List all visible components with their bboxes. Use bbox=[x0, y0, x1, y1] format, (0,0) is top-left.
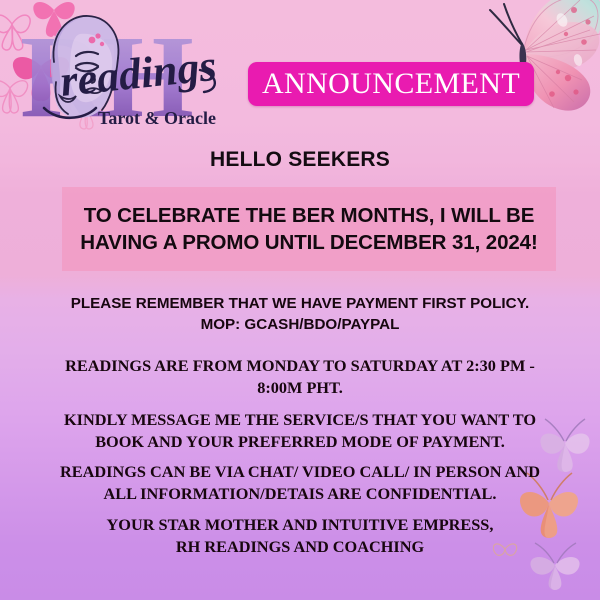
signature-line-1: YOUR STAR MOTHER AND INTUITIVE EMPRESS, bbox=[45, 514, 555, 536]
promo-text: TO CELEBRATE THE BER MONTHS, I WILL BE H… bbox=[62, 202, 556, 257]
announcement-badge: ANNOUNCEMENT bbox=[248, 62, 534, 106]
logo-tagline: Tarot & Oracle bbox=[98, 108, 216, 128]
payment-policy-text: PLEASE REMEMBER THAT WE HAVE PAYMENT FIR… bbox=[50, 294, 550, 336]
announcement-badge-label: ANNOUNCEMENT bbox=[262, 69, 520, 99]
schedule-text: READINGS ARE FROM MONDAY TO SATURDAY AT … bbox=[45, 355, 555, 398]
promo-line-1: TO CELEBRATE THE BER MONTHS, I WILL BE bbox=[70, 202, 548, 229]
promo-highlight-band: TO CELEBRATE THE BER MONTHS, I WILL BE H… bbox=[62, 187, 556, 271]
reading-channels-text: READINGS CAN BE VIA CHAT/ VIDEO CALL/ IN… bbox=[45, 461, 555, 504]
booking-instructions-text: KINDLY MESSAGE ME THE SERVICE/S THAT YOU… bbox=[45, 409, 555, 452]
greeting-heading: HELLO SEEKERS bbox=[0, 148, 600, 172]
signature-line-2: RH READINGS AND COACHING bbox=[45, 536, 555, 558]
signature-block: YOUR STAR MOTHER AND INTUITIVE EMPRESS, … bbox=[45, 514, 555, 557]
brand-logo: R H bbox=[14, 4, 254, 136]
announcement-poster: R H bbox=[0, 0, 600, 600]
promo-line-2: HAVING A PROMO UNTIL DECEMBER 31, 2024! bbox=[70, 229, 548, 256]
